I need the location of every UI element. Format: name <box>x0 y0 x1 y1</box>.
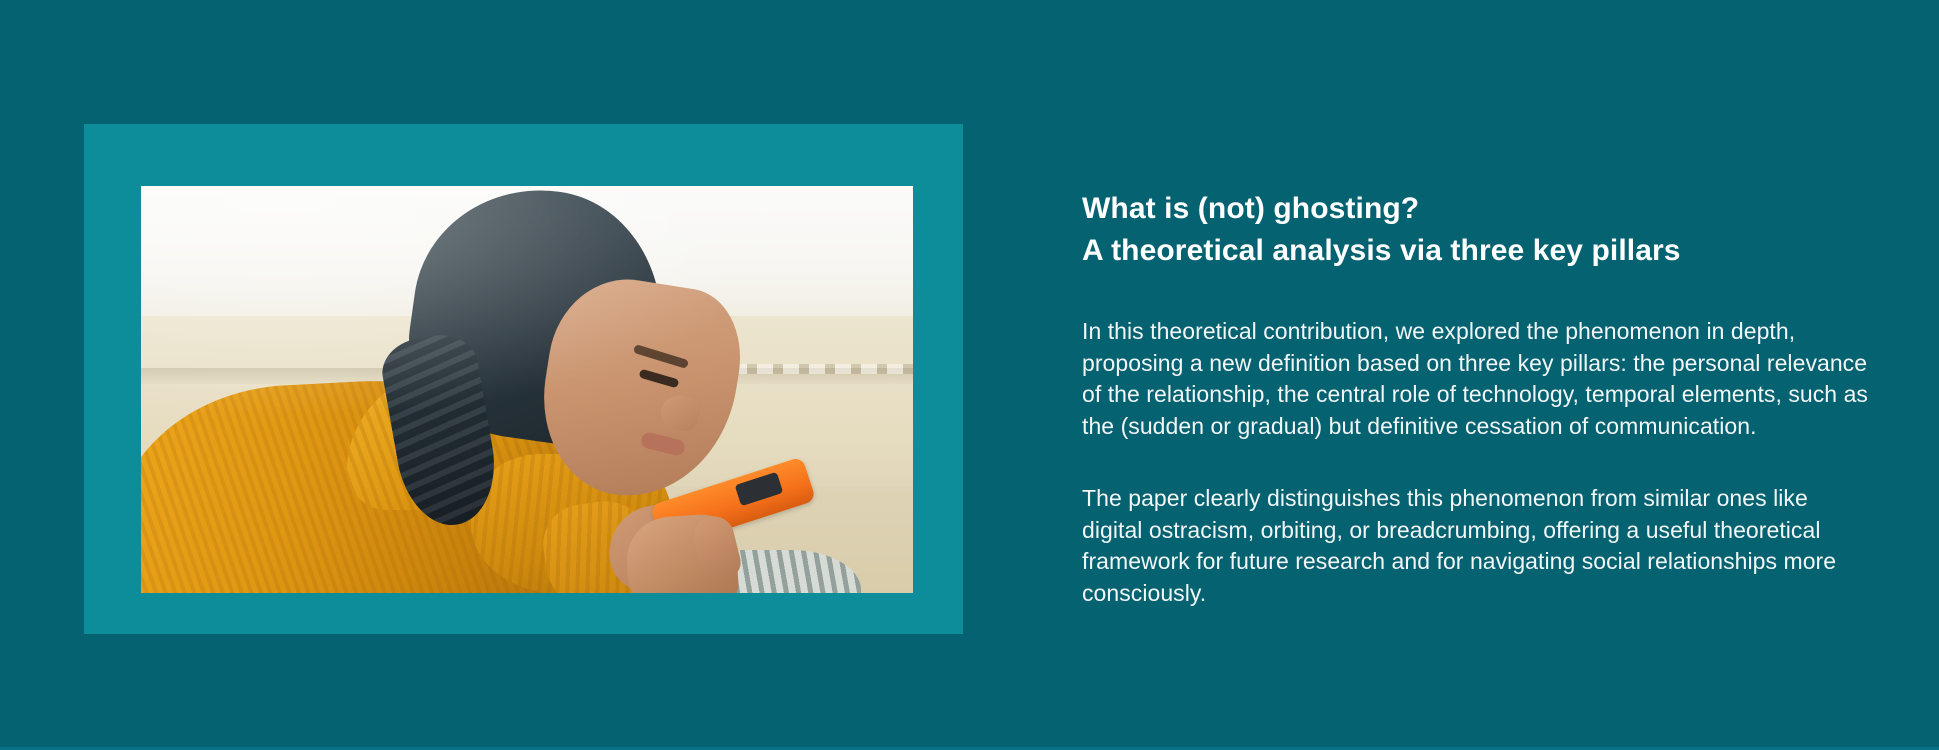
slide-canvas: What is (not) ghosting? A theoretical an… <box>0 0 1939 750</box>
text-column: What is (not) ghosting? A theoretical an… <box>1082 188 1872 609</box>
slide-title: What is (not) ghosting? A theoretical an… <box>1082 188 1872 272</box>
title-line-2: A theoretical analysis via three key pil… <box>1082 230 1872 272</box>
paragraph-definition: In this theoretical contribution, we exp… <box>1082 316 1872 442</box>
photo-image <box>141 186 913 593</box>
paragraph-distinction: The paper clearly distinguishes this phe… <box>1082 483 1872 609</box>
body-text: In this theoretical contribution, we exp… <box>1082 316 1872 609</box>
title-line-1: What is (not) ghosting? <box>1082 188 1872 230</box>
photo-frame <box>84 124 963 634</box>
